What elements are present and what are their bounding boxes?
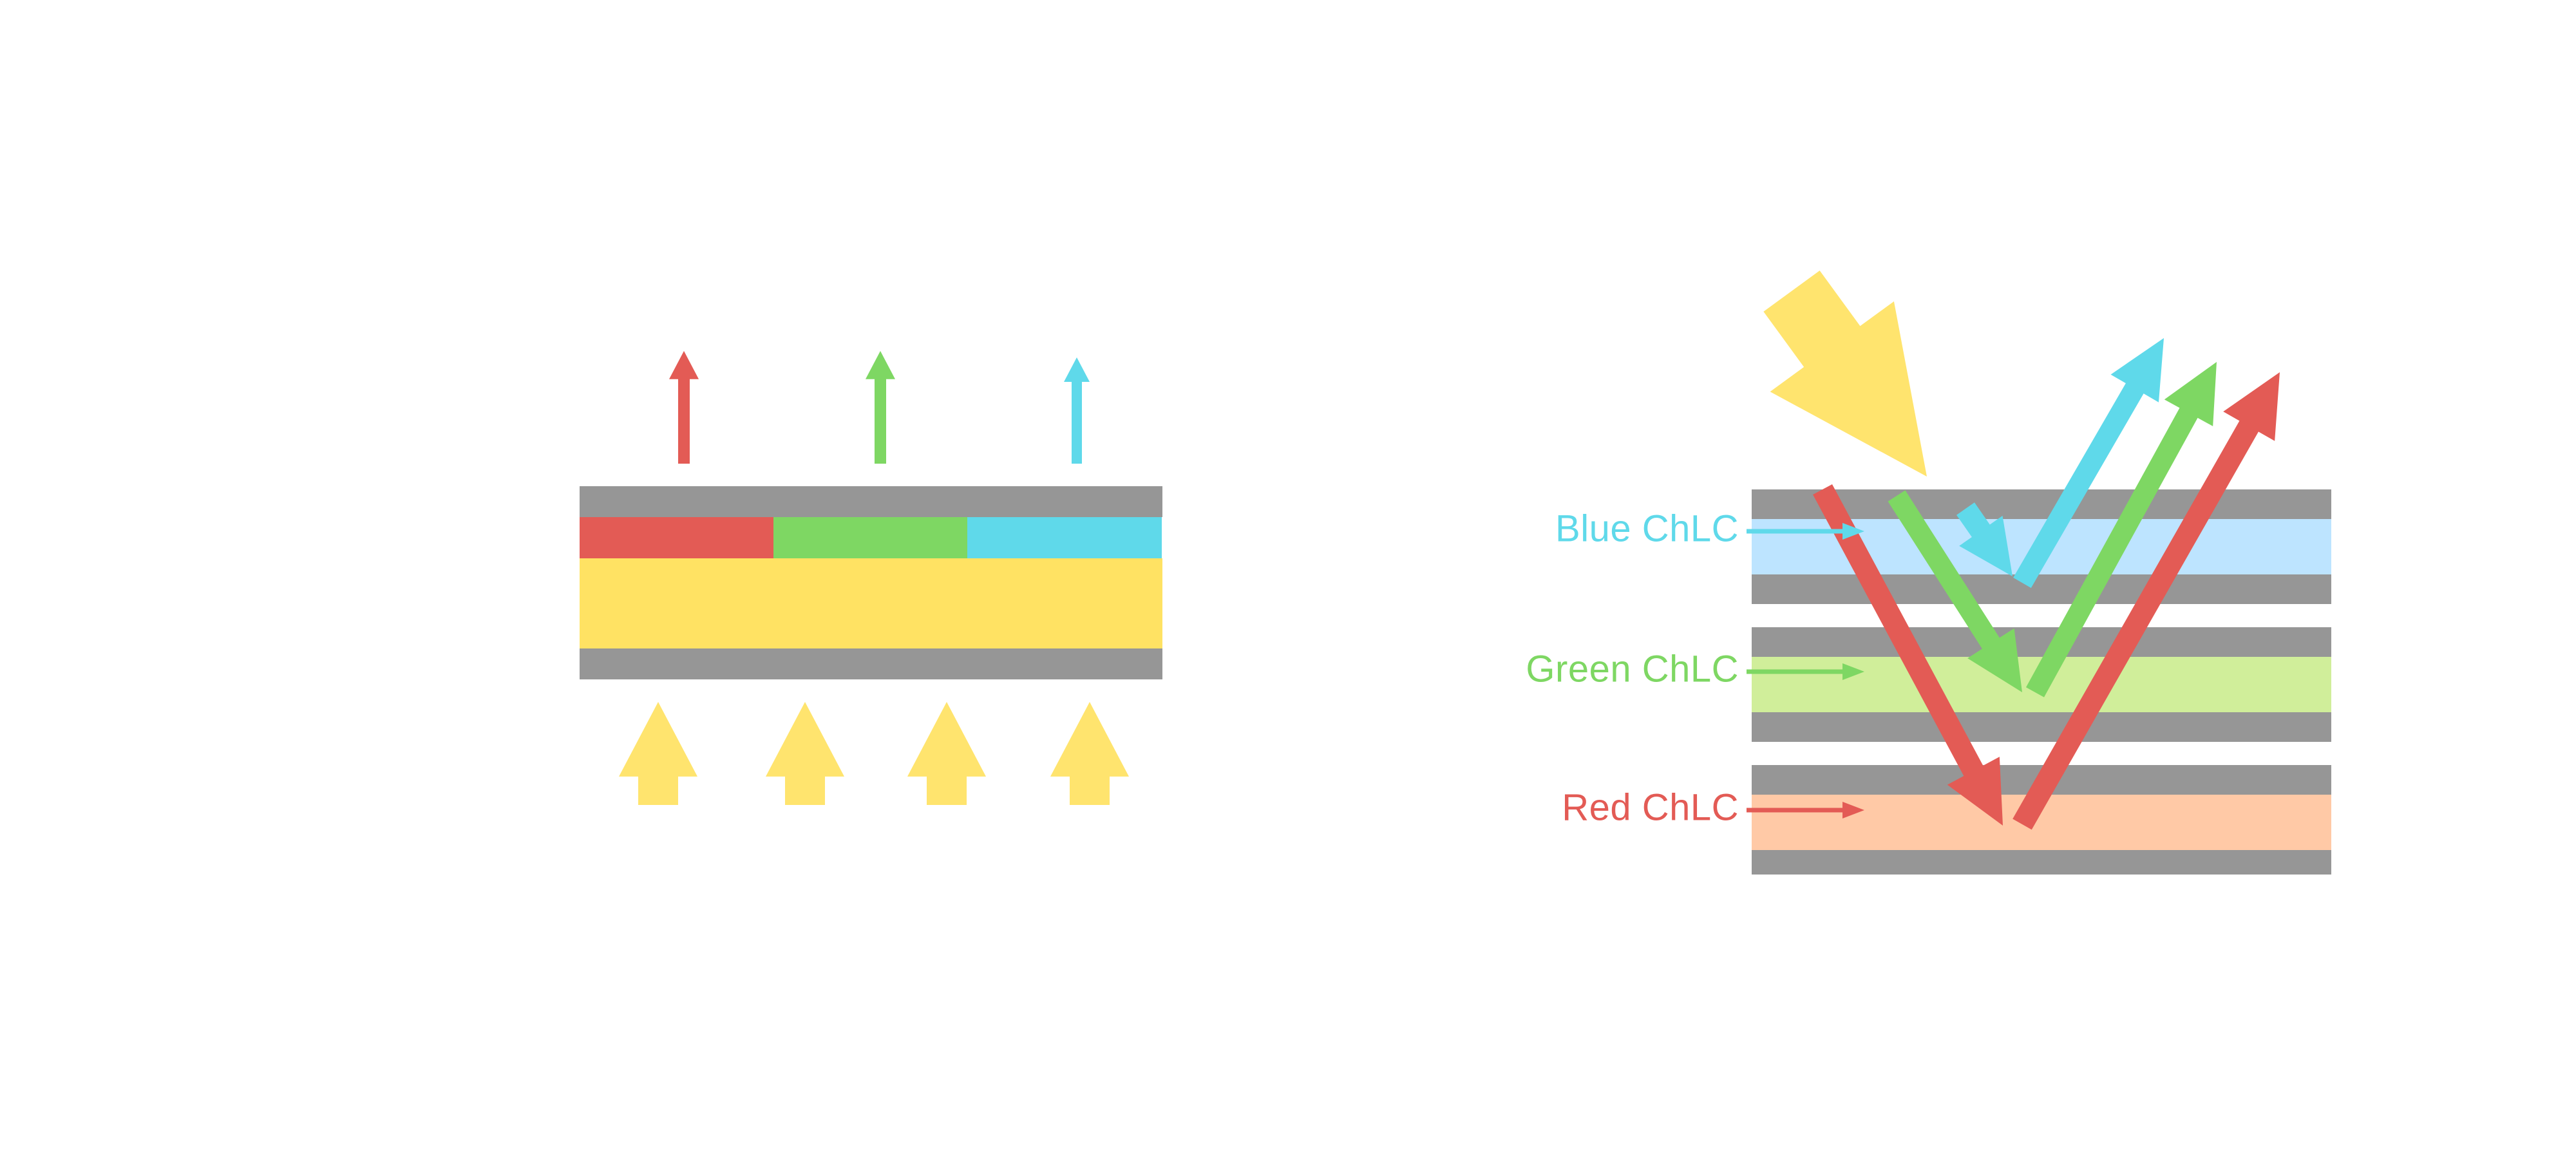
blue-filter — [967, 517, 1162, 558]
red-filter — [580, 517, 773, 558]
left-layer-stack — [580, 486, 1162, 679]
green-top-electrode — [1752, 627, 2331, 657]
bottom-electrode — [580, 648, 1162, 679]
label-blue-chlc: Blue ChLC — [1555, 507, 1739, 549]
label-red-chlc: Red ChLC — [1562, 786, 1739, 828]
chlc-display-diagram: Blue ChLCGreen ChLCRed ChLC — [0, 0, 2576, 1154]
diagram-stage: Blue ChLCGreen ChLCRed ChLC — [0, 0, 2576, 1154]
top-electrode — [580, 486, 1162, 517]
green-bottom-electrode — [1752, 712, 2331, 742]
green-filter — [773, 517, 967, 558]
label-green-chlc: Green ChLC — [1526, 648, 1739, 690]
blue-bottom-electrode — [1752, 574, 2331, 604]
red-bottom-electrode — [1752, 850, 2331, 875]
backlight-layer — [580, 558, 1162, 648]
